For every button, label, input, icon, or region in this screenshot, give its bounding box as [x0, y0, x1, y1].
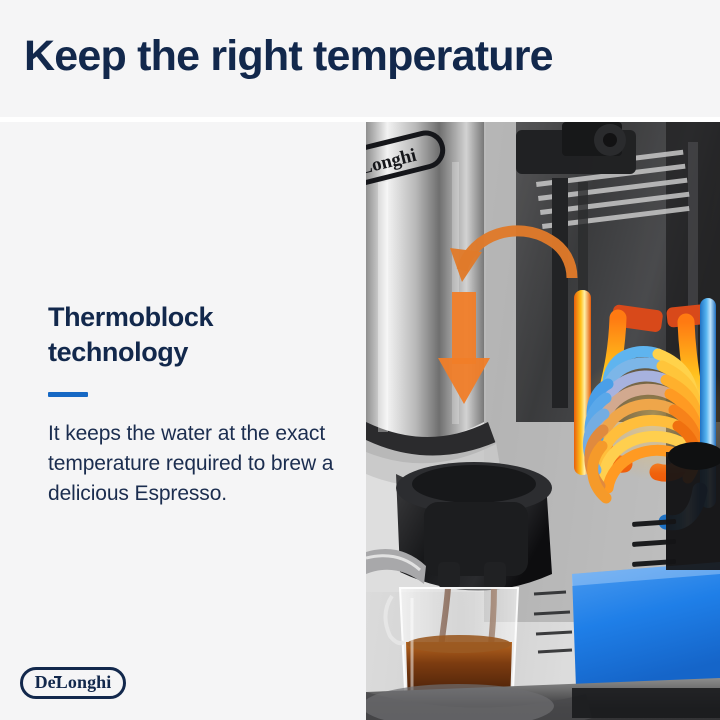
machine-chrome-body: eLonghi	[366, 122, 500, 486]
feature-subheading: Thermoblock technology	[48, 300, 338, 370]
accent-divider	[48, 392, 88, 397]
product-photo: eLonghi	[366, 122, 720, 720]
feature-text-column: Thermoblock technology It keeps the wate…	[48, 300, 338, 530]
feature-body-text: It keeps the water at the exact temperat…	[48, 419, 338, 509]
macron-accent-icon	[54, 676, 61, 678]
product-feature-card: Keep the right temperature Thermoblock t…	[0, 0, 720, 720]
page-title: Keep the right temperature	[24, 30, 553, 82]
delonghi-logo: DeLonghi	[20, 667, 126, 699]
header-band: Keep the right temperature	[0, 0, 720, 117]
espresso-machine-cutaway-illustration: eLonghi	[366, 122, 720, 720]
delonghi-wordmark: DeLonghi	[35, 673, 112, 691]
